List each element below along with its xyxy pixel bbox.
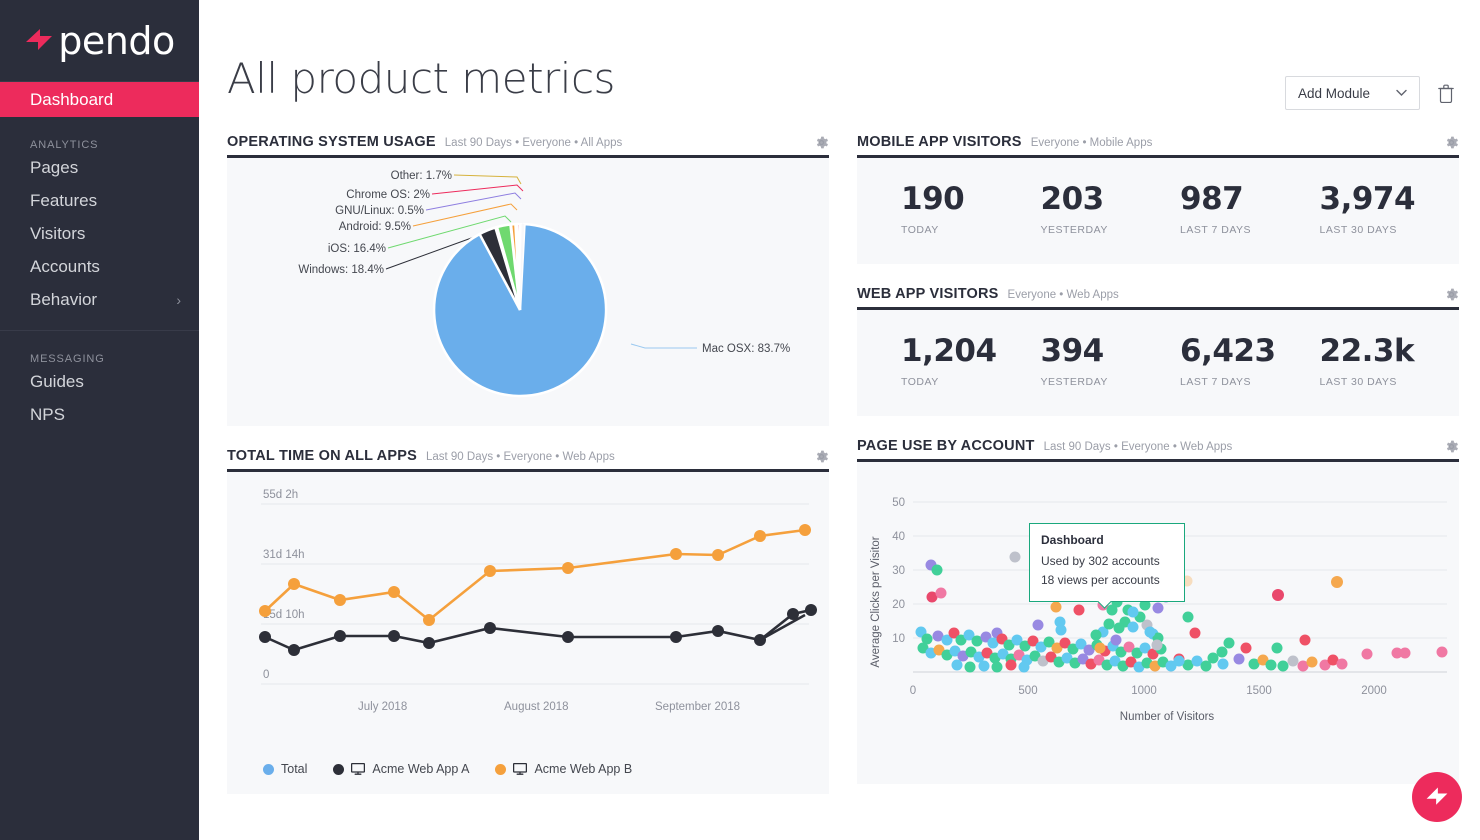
stat-value: 22.3k	[1320, 336, 1460, 367]
page-use-chart-body: 50 40 30 20 10 0 500 1000 1500 2000	[857, 462, 1459, 784]
sidebar-item-label: Visitors	[30, 224, 85, 244]
stat-label: TODAY	[901, 224, 1041, 236]
app-root: pendo Dashboard ANALYTICS Pages Features…	[0, 0, 1480, 840]
module-header: PAGE USE BY ACCOUNT Last 90 Days • Every…	[857, 438, 1459, 462]
pendo-arrow-icon	[24, 26, 54, 56]
module-header: OPERATING SYSTEM USAGE Last 90 Days • Ev…	[227, 134, 829, 158]
main-content: All product metrics Add Module	[199, 0, 1480, 840]
stat-row: 190 TODAY 203 YESTERDAY 987 LAST 7 DAYS	[857, 158, 1459, 264]
sidebar-item-label: Dashboard	[30, 90, 113, 110]
module-meta: Last 90 Days • Everyone • Web Apps	[1044, 441, 1233, 453]
add-module-label: Add Module	[1298, 86, 1370, 101]
stat-value: 394	[1041, 336, 1181, 367]
module-settings-button[interactable]	[1444, 287, 1459, 302]
stat-value: 1,204	[901, 336, 1041, 367]
chevron-down-icon	[1396, 89, 1407, 97]
header-actions: Add Module	[1285, 76, 1458, 110]
x-tick-label: 0	[910, 685, 916, 697]
stat-last-30-days: 3,974 LAST 30 DAYS	[1320, 184, 1460, 236]
sidebar-section-analytics-label: ANALYTICS	[0, 139, 199, 151]
module-web-app-visitors: WEB APP VISITORS Everyone • Web Apps	[857, 286, 1459, 416]
y-tick-label: 50	[892, 497, 905, 509]
page-header: All product metrics Add Module	[227, 0, 1458, 110]
y-tick-label: 0	[263, 669, 269, 681]
sidebar-item-visitors[interactable]: Visitors	[0, 217, 199, 250]
stat-value: 3,974	[1320, 184, 1460, 215]
sidebar: pendo Dashboard ANALYTICS Pages Features…	[0, 0, 199, 840]
module-meta: Everyone • Mobile Apps	[1031, 137, 1153, 149]
stat-label: LAST 7 DAYS	[1180, 376, 1320, 388]
stat-row: 1,204 TODAY 394 YESTERDAY 6,423 LAST 7 D…	[857, 310, 1459, 416]
stat-label: LAST 30 DAYS	[1320, 224, 1460, 236]
legend-dot-icon	[263, 764, 274, 775]
pie-label-mac-osx: Mac OSX: 83.7%	[702, 343, 790, 355]
sidebar-item-label: Features	[30, 191, 97, 211]
series-line-acme-web-app-b	[265, 530, 805, 620]
pie-label-android: Android: 9.5%	[339, 221, 411, 233]
pie-label-chrome-os: Chrome OS: 2%	[346, 189, 430, 201]
stat-label: YESTERDAY	[1041, 224, 1181, 236]
scatter-tooltip: Dashboard Used by 302 accounts 18 views …	[1029, 523, 1185, 602]
stat-label: LAST 7 DAYS	[1180, 224, 1320, 236]
sidebar-item-behavior[interactable]: Behavior ›	[0, 283, 199, 316]
chevron-right-icon: ›	[176, 292, 181, 308]
stat-value: 203	[1041, 184, 1181, 215]
page-use-scatter-chart[interactable]: 50 40 30 20 10 0 500 1000 1500 2000	[857, 462, 1459, 784]
stat-yesterday: 203 YESTERDAY	[1041, 184, 1181, 236]
module-mobile-app-visitors: MOBILE APP VISITORS Everyone • Mobile Ap…	[857, 134, 1459, 264]
total-time-line-chart[interactable]: 55d 2h 31d 14h 15d 10h 0 July 2018 Augus…	[227, 472, 829, 794]
sidebar-item-label: Pages	[30, 158, 78, 178]
legend-dot-icon	[333, 764, 344, 775]
legend-dot-icon	[495, 764, 506, 775]
legend-label: Acme Web App A	[372, 762, 469, 776]
stat-today: 190 TODAY	[901, 184, 1041, 236]
x-tick-label: 2000	[1361, 685, 1387, 697]
pie-label-gnu-linux: GNU/Linux: 0.5%	[335, 205, 424, 217]
pendo-arrow-icon	[1424, 784, 1450, 810]
stat-yesterday: 394 YESTERDAY	[1041, 336, 1181, 388]
stat-value: 190	[901, 184, 1041, 215]
brand-name: pendo	[58, 22, 174, 60]
os-usage-pie-chart[interactable]: Other: 1.7% Chrome OS: 2% GNU/Linux: 0.5…	[227, 158, 829, 426]
stat-last-30-days: 22.3k LAST 30 DAYS	[1320, 336, 1460, 388]
x-tick-label: 500	[1018, 685, 1037, 697]
sidebar-item-label: NPS	[30, 405, 65, 425]
y-tick-label: 10	[892, 633, 905, 645]
total-time-chart-body: 55d 2h 31d 14h 15d 10h 0 July 2018 Augus…	[227, 472, 829, 794]
module-total-time-on-all-apps: TOTAL TIME ON ALL APPS Last 90 Days • Ev…	[227, 448, 829, 794]
tooltip-title: Dashboard	[1041, 533, 1173, 547]
gear-icon	[814, 449, 829, 464]
y-tick-label: 55d 2h	[263, 489, 298, 501]
stat-label: YESTERDAY	[1041, 376, 1181, 388]
module-settings-button[interactable]	[1444, 135, 1459, 150]
x-tick-label: 1000	[1131, 685, 1157, 697]
legend-item-total[interactable]: Total	[263, 762, 307, 776]
stat-label: LAST 30 DAYS	[1320, 376, 1460, 388]
tooltip-accounts: Used by 302 accounts	[1041, 552, 1173, 571]
os-usage-chart-body: Other: 1.7% Chrome OS: 2% GNU/Linux: 0.5…	[227, 158, 829, 426]
monitor-icon	[351, 763, 365, 775]
module-settings-button[interactable]	[814, 135, 829, 150]
sidebar-item-dashboard[interactable]: Dashboard	[0, 82, 199, 117]
dashboard-grid: OPERATING SYSTEM USAGE Last 90 Days • Ev…	[227, 134, 1458, 816]
legend-item-acme-web-app-b[interactable]: Acme Web App B	[495, 762, 632, 776]
x-axis-title: Number of Visitors	[1120, 711, 1215, 723]
module-settings-button[interactable]	[814, 449, 829, 464]
sidebar-item-pages[interactable]: Pages	[0, 151, 199, 184]
sidebar-item-guides[interactable]: Guides	[0, 365, 199, 398]
legend-label: Total	[281, 762, 307, 776]
module-header: TOTAL TIME ON ALL APPS Last 90 Days • Ev…	[227, 448, 829, 472]
tooltip-views: 18 views per accounts	[1041, 571, 1173, 590]
pie-label-other: Other: 1.7%	[391, 170, 452, 182]
module-title: WEB APP VISITORS	[857, 286, 999, 302]
sidebar-item-label: Behavior	[30, 290, 97, 310]
mobile-visitors-body: 190 TODAY 203 YESTERDAY 987 LAST 7 DAYS	[857, 158, 1459, 264]
y-tick-label: 31d 14h	[263, 549, 305, 561]
module-meta: Last 90 Days • Everyone • All Apps	[445, 137, 622, 149]
trash-icon	[1438, 84, 1454, 103]
delete-dashboard-button[interactable]	[1434, 80, 1458, 107]
module-operating-system-usage: OPERATING SYSTEM USAGE Last 90 Days • Ev…	[227, 134, 829, 426]
x-tick-label: September 2018	[655, 701, 740, 713]
stat-last-7-days: 6,423 LAST 7 DAYS	[1180, 336, 1320, 388]
module-meta: Everyone • Web Apps	[1008, 289, 1119, 301]
legend-label: Acme Web App B	[534, 762, 632, 776]
y-tick-label: 30	[892, 565, 905, 577]
tooltip-arrow	[1096, 601, 1112, 610]
module-title: PAGE USE BY ACCOUNT	[857, 438, 1035, 454]
add-module-dropdown[interactable]: Add Module	[1285, 76, 1420, 110]
sidebar-lower-background	[0, 458, 199, 840]
module-header: MOBILE APP VISITORS Everyone • Mobile Ap…	[857, 134, 1459, 158]
sidebar-item-accounts[interactable]: Accounts	[0, 250, 199, 283]
page-title: All product metrics	[227, 58, 615, 100]
stat-value: 6,423	[1180, 336, 1320, 367]
sidebar-item-label: Accounts	[30, 257, 100, 277]
gear-icon	[1444, 439, 1459, 454]
module-header: WEB APP VISITORS Everyone • Web Apps	[857, 286, 1459, 310]
y-tick-label: 40	[892, 531, 905, 543]
dashboard-column-right: MOBILE APP VISITORS Everyone • Mobile Ap…	[857, 134, 1459, 816]
module-title: TOTAL TIME ON ALL APPS	[227, 448, 417, 464]
y-tick-label: 20	[892, 599, 905, 611]
stat-label: TODAY	[901, 376, 1041, 388]
series-line-acme-web-app-a	[265, 615, 805, 650]
dashboard-column-left: OPERATING SYSTEM USAGE Last 90 Days • Ev…	[227, 134, 829, 816]
pie-label-windows: Windows: 18.4%	[298, 264, 384, 276]
legend-item-acme-web-app-a[interactable]: Acme Web App A	[333, 762, 469, 776]
monitor-icon	[513, 763, 527, 775]
brand-logo[interactable]: pendo	[0, 0, 199, 82]
x-tick-label: July 2018	[358, 701, 407, 713]
pie-label-ios: iOS: 16.4%	[328, 243, 386, 255]
gear-icon	[1444, 287, 1459, 302]
module-settings-button[interactable]	[1444, 439, 1459, 454]
module-meta: Last 90 Days • Everyone • Web Apps	[426, 451, 615, 463]
series-points-acme-web-app-a	[259, 604, 817, 656]
gear-icon	[1444, 135, 1459, 150]
y-axis-title: Average Clicks per Visitor	[870, 536, 882, 667]
module-title: MOBILE APP VISITORS	[857, 134, 1022, 150]
sidebar-section-messaging-label: MESSAGING	[0, 353, 199, 365]
x-tick-label: 1500	[1246, 685, 1272, 697]
web-visitors-body: 1,204 TODAY 394 YESTERDAY 6,423 LAST 7 D…	[857, 310, 1459, 416]
sidebar-item-features[interactable]: Features	[0, 184, 199, 217]
pendo-launcher-button[interactable]	[1412, 772, 1462, 822]
stat-today: 1,204 TODAY	[901, 336, 1041, 388]
sidebar-divider	[0, 330, 199, 331]
sidebar-item-nps[interactable]: NPS	[0, 398, 199, 431]
series-points-acme-web-app-b	[259, 524, 811, 626]
chart-legend: Total Acme Web App A	[227, 758, 632, 776]
x-tick-label: August 2018	[504, 701, 569, 713]
module-title: OPERATING SYSTEM USAGE	[227, 134, 436, 150]
module-page-use-by-account: PAGE USE BY ACCOUNT Last 90 Days • Every…	[857, 438, 1459, 784]
stat-last-7-days: 987 LAST 7 DAYS	[1180, 184, 1320, 236]
gear-icon	[814, 135, 829, 150]
sidebar-item-label: Guides	[30, 372, 84, 392]
stat-value: 987	[1180, 184, 1320, 215]
